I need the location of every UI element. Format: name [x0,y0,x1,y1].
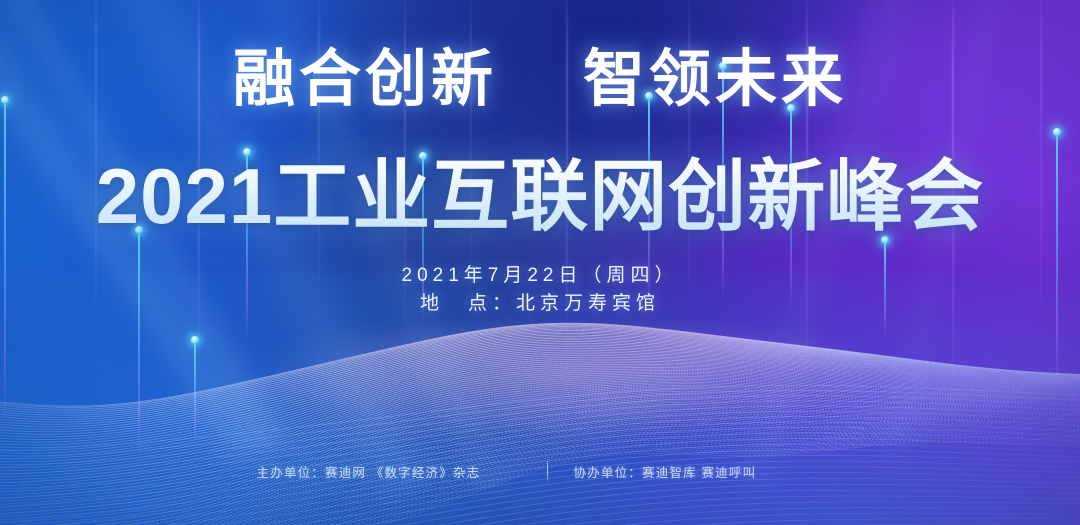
event-details: 2021年7月22日（周四） 地 点：北京万寿宾馆 [0,262,1080,318]
headline-right: 智领未来 [583,46,847,114]
event-venue: 地 点：北京万寿宾馆 [0,290,1080,318]
footer-organisers: 主办单位：赛迪网 《数字经济》杂志 协办单位：赛迪智库 赛迪呼叫 [0,458,1080,484]
main-title: 2021工业互联网创新峰会 [0,134,1080,246]
event-date: 2021年7月22日（周四） [0,262,1080,290]
host-organiser: 主办单位：赛迪网 《数字经济》杂志 [257,462,547,481]
conference-poster: 融合创新智领未来 2021工业互联网创新峰会 2021年7月22日（周四） 地 … [0,0,1080,525]
wave-mesh-graphic [0,300,1080,525]
wave-mesh-svg [0,300,1080,525]
headline-left: 融合创新 [233,46,497,114]
co-organiser: 协办单位：赛迪智库 赛迪呼叫 [574,462,824,481]
headline-slogan: 融合创新智领未来 [0,28,1080,118]
footer-divider [547,458,548,484]
